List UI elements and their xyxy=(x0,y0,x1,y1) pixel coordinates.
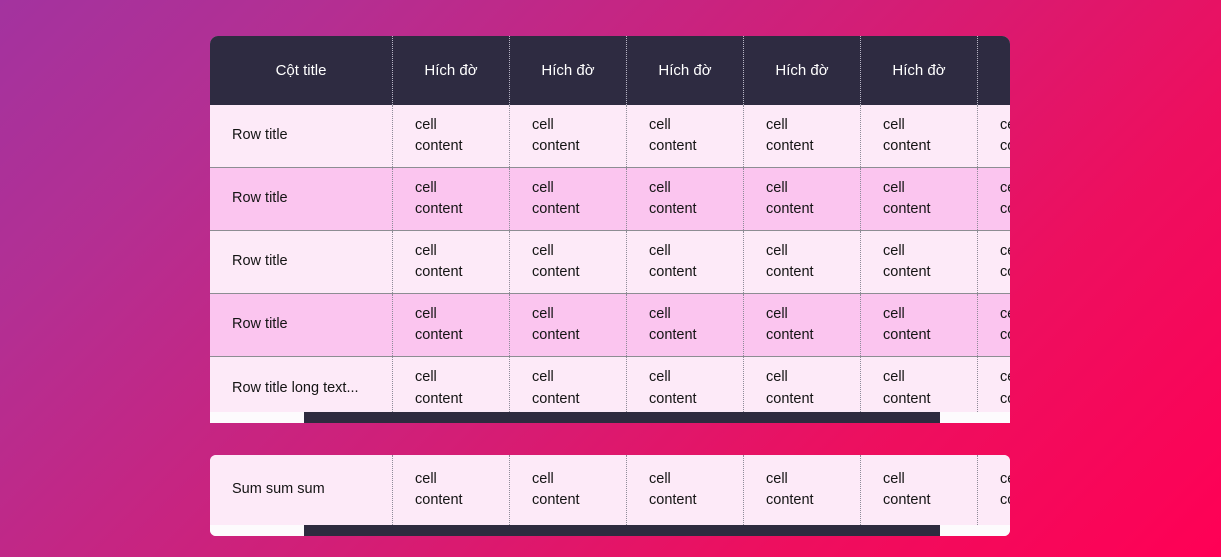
table-cell: cell content xyxy=(627,294,744,356)
table-cell: cell content xyxy=(978,105,1010,167)
table-cell: cell content xyxy=(978,168,1010,230)
summary-scroll-canvas: Sum sum sum cell content cell content ce… xyxy=(210,455,1010,525)
table-cell: cell content xyxy=(861,105,978,167)
table-cell: cell content xyxy=(510,105,627,167)
row-title: Row title xyxy=(210,168,393,230)
summary-card: Sum sum sum cell content cell content ce… xyxy=(210,455,1010,536)
summary-row-title: Sum sum sum xyxy=(210,455,393,525)
summary-row[interactable]: Sum sum sum cell content cell content ce… xyxy=(210,455,1010,525)
summary-cell: cell content xyxy=(978,455,1010,525)
table-cell: cell content xyxy=(393,168,510,230)
table-cell: cell content xyxy=(510,231,627,293)
column-header-4[interactable]: Hích đờ xyxy=(744,36,861,105)
table-cell: cell content xyxy=(978,231,1010,293)
table-cell: cell content xyxy=(393,357,510,420)
table-cell: cell content xyxy=(861,294,978,356)
table-cell: cell content xyxy=(393,231,510,293)
table-cell: cell content xyxy=(978,357,1010,420)
table-cell: cell content xyxy=(861,357,978,420)
row-title: Row title xyxy=(210,105,393,167)
table-row[interactable]: Row title cell content cell content cell… xyxy=(210,168,1010,231)
summary-cell: cell content xyxy=(393,455,510,525)
row-title: Row title xyxy=(210,294,393,356)
horizontal-scrollbar-body[interactable] xyxy=(210,412,1010,423)
table-row[interactable]: Row title cell content cell content cell… xyxy=(210,294,1010,357)
table-cell: cell content xyxy=(510,294,627,356)
column-header-3[interactable]: Hích đờ xyxy=(627,36,744,105)
scrollbar-thumb[interactable] xyxy=(304,412,940,423)
summary-cell: cell content xyxy=(510,455,627,525)
table-cell: cell content xyxy=(627,357,744,420)
data-table-card: Cột title Hích đờ Hích đờ Hích đờ Hích đ… xyxy=(210,36,1010,423)
table-cell: cell content xyxy=(978,294,1010,356)
table-row[interactable]: Row title cell content cell content cell… xyxy=(210,231,1010,294)
table-cell: cell content xyxy=(393,294,510,356)
table-cell: cell content xyxy=(744,105,861,167)
table-cell: cell content xyxy=(744,357,861,420)
table-row[interactable]: Row title cell content cell content cell… xyxy=(210,105,1010,168)
column-header-0[interactable]: Cột title xyxy=(210,36,393,105)
column-header-1[interactable]: Hích đờ xyxy=(393,36,510,105)
table-cell: cell content xyxy=(510,357,627,420)
column-header-2[interactable]: Hích đờ xyxy=(510,36,627,105)
row-title: Row title long text... xyxy=(210,357,393,420)
table-cell: cell content xyxy=(744,168,861,230)
column-header-5[interactable]: Hích đờ xyxy=(861,36,978,105)
table-cell: cell content xyxy=(861,168,978,230)
summary-cell: cell content xyxy=(627,455,744,525)
table-cell: cell content xyxy=(627,231,744,293)
summary-cell: cell content xyxy=(861,455,978,525)
table-cell: cell content xyxy=(744,231,861,293)
table-stage: Cột title Hích đờ Hích đờ Hích đờ Hích đ… xyxy=(210,36,1010,494)
summary-cell: cell content xyxy=(744,455,861,525)
table-cell: cell content xyxy=(510,168,627,230)
row-title: Row title xyxy=(210,231,393,293)
table-cell: cell content xyxy=(627,168,744,230)
table-cell: cell content xyxy=(393,105,510,167)
horizontal-scrollbar-summary[interactable] xyxy=(210,525,1010,536)
column-header-6[interactable] xyxy=(978,36,1010,105)
scrollbar-thumb[interactable] xyxy=(304,525,940,536)
table-header-row: Cột title Hích đờ Hích đờ Hích đờ Hích đ… xyxy=(210,36,1010,105)
table-cell: cell content xyxy=(627,105,744,167)
table-scroll-canvas: Cột title Hích đờ Hích đờ Hích đờ Hích đ… xyxy=(210,36,1010,421)
table-cell: cell content xyxy=(744,294,861,356)
table-cell: cell content xyxy=(861,231,978,293)
